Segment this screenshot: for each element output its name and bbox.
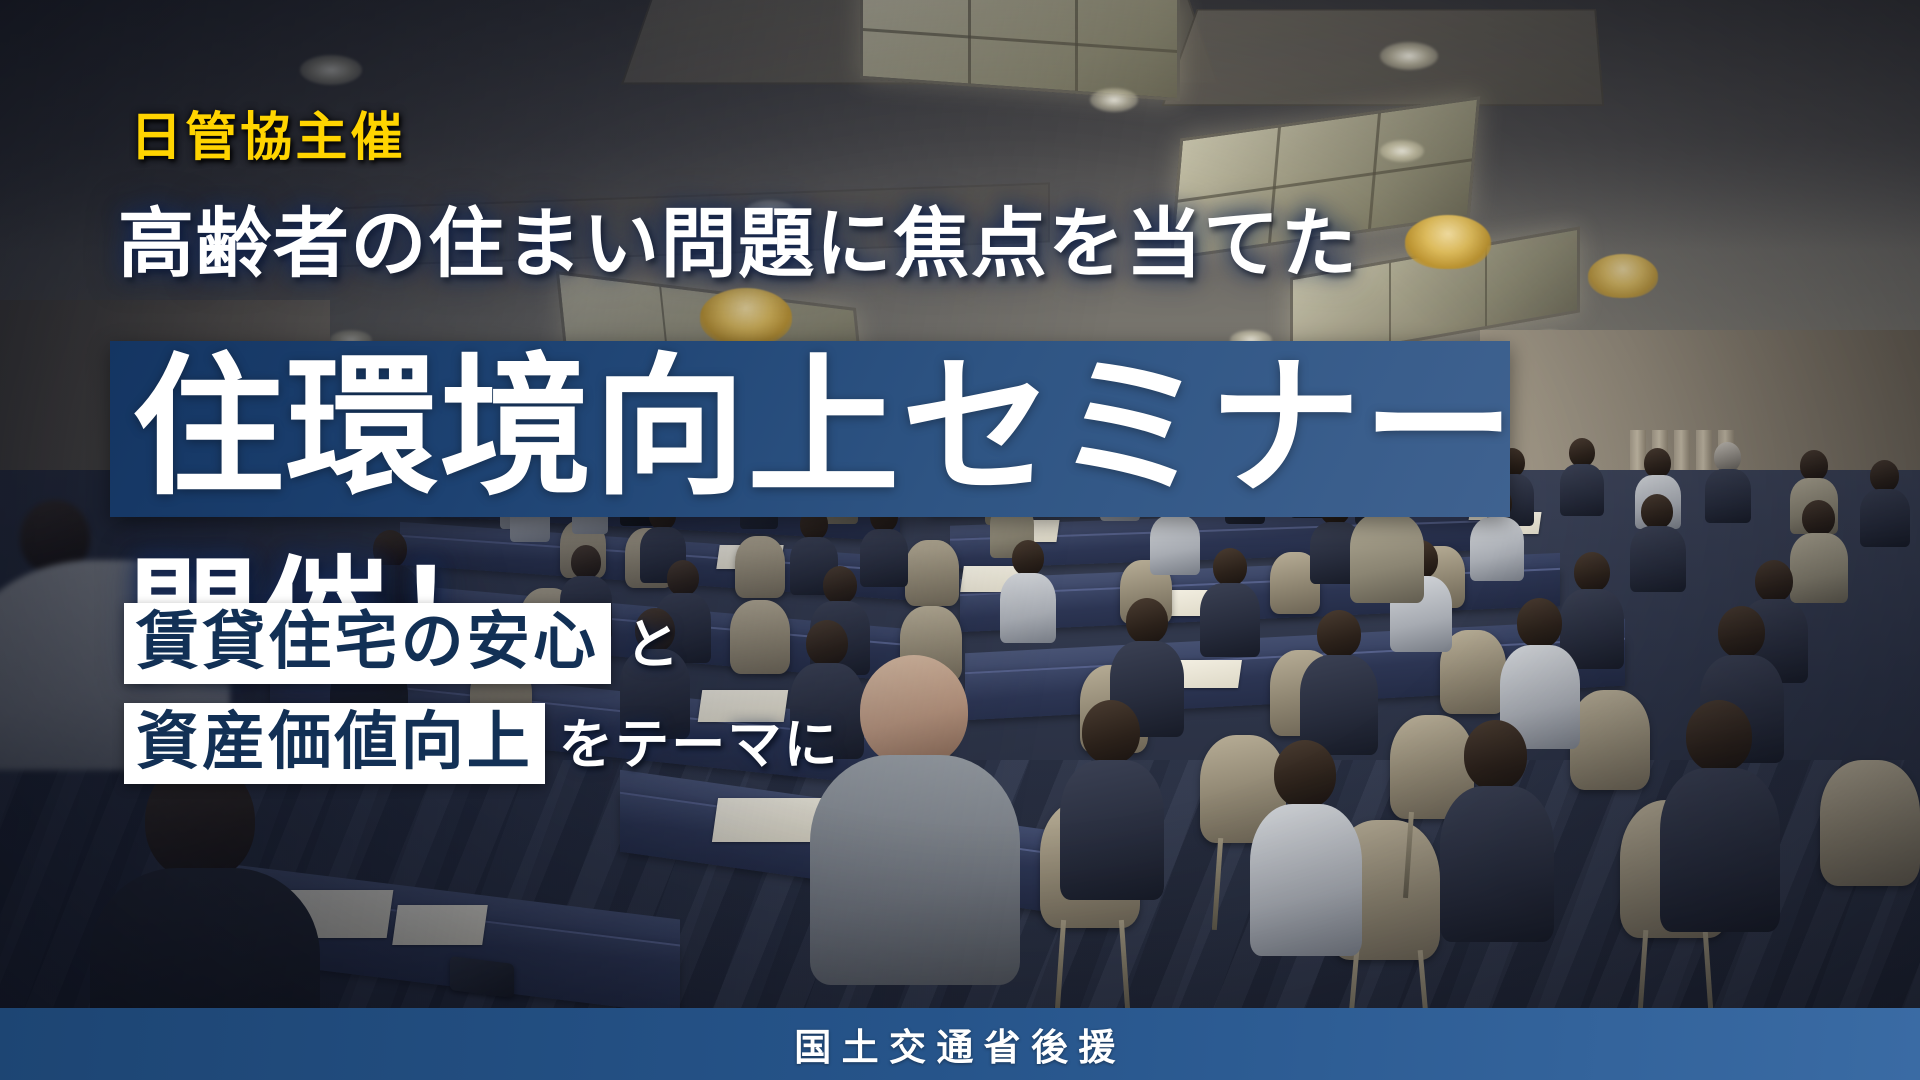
subtitle-highlight-1: 賃貸住宅の安心 (124, 603, 611, 684)
subtitle-highlight-2: 資産価値向上 (124, 703, 545, 784)
subtitle-row-2: 資産価値向上 をテーマに (124, 700, 840, 784)
footer-bar: 国土交通省後援 (0, 1008, 1920, 1080)
headline-line-1: 高齢者の住まい問題に焦点を当てた (118, 182, 1358, 292)
subtitle-tail-1: と (625, 600, 681, 679)
text-layer: 日管協主催 高齢者の住まい問題に焦点を当てた 住環境向上セミナー 開催！ 賃貸住… (0, 0, 1920, 1080)
footer-text: 国土交通省後援 (794, 1017, 1126, 1071)
headline-boxed-text: 住環境向上セミナー (132, 337, 1516, 521)
subtitle-row-1: 賃貸住宅の安心 と (124, 600, 681, 684)
eyebrow-label: 日管協主催 (130, 95, 406, 170)
subtitle-tail-2: をテーマに (559, 700, 840, 779)
poster-stage: 日管協主催 高齢者の住まい問題に焦点を当てた 住環境向上セミナー 開催！ 賃貸住… (0, 0, 1920, 1080)
headline-box: 住環境向上セミナー (110, 341, 1510, 517)
